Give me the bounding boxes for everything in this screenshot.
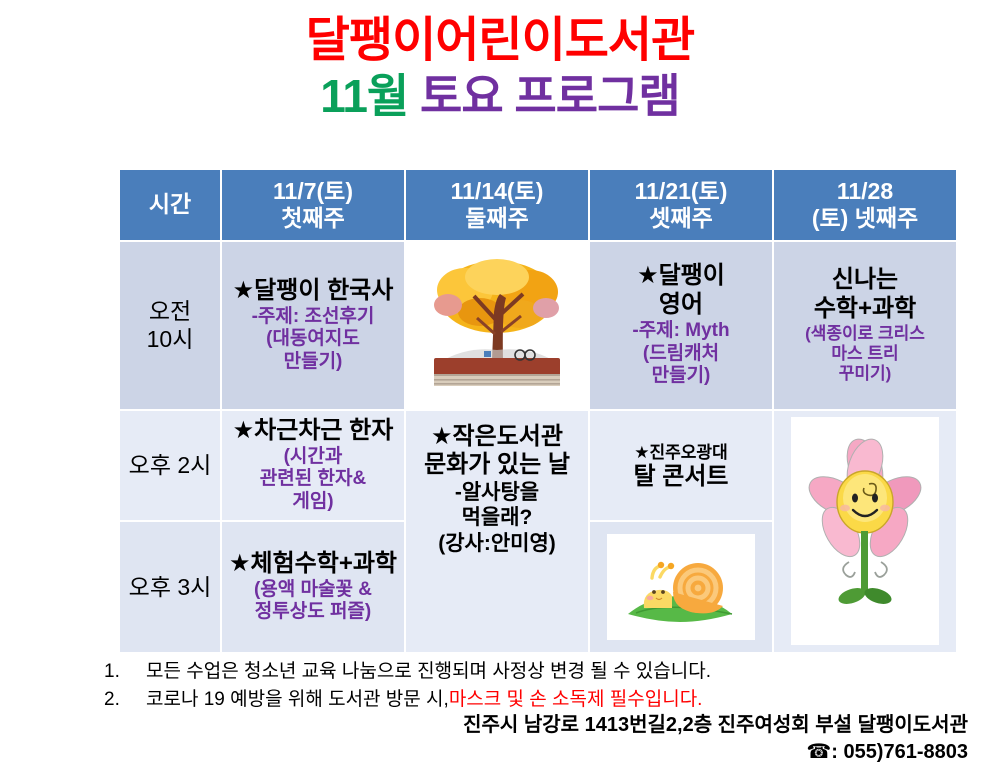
flower-icon bbox=[805, 436, 925, 626]
program-sub-mathsci-3: 꾸미기) bbox=[777, 364, 953, 384]
note-2-text-highlight: 마스크 및 손 소독제 필수입니다. bbox=[449, 686, 703, 714]
header-week4-date: 11/28 bbox=[837, 178, 893, 204]
program-title-talconcert: 탈 콘서트 bbox=[593, 463, 769, 492]
header-week2-ordinal: 둘째주 bbox=[409, 205, 585, 232]
program-title-korean-history: ★달팽이 한국사 bbox=[225, 277, 401, 306]
cell-week1-afternoon3: ★체험수학+과학 (용액 마술꽃 & 정투상도 퍼즐) bbox=[222, 522, 404, 652]
header-week3-ordinal: 셋째주 bbox=[593, 205, 769, 232]
library-address: 진주시 남강로 1413번길2,2층 진주여성회 부설 달팽이도서관 bbox=[0, 712, 968, 739]
table-header-row: 시간 11/7(토) 첫째주 11/14(토) 둘째주 11/21(토) 셋째주… bbox=[120, 170, 956, 240]
snail-icon bbox=[616, 540, 746, 635]
note-item-2: 2. 코로나 19 예방을 위해 도서관 방문 시, 마스크 및 손 소독제 필… bbox=[104, 686, 964, 714]
time-morning-line1: 오전 bbox=[123, 297, 217, 326]
cell-time-afternoon2: 오후 2시 bbox=[120, 411, 220, 520]
schedule-table-wrapper: 시간 11/7(토) 첫째주 11/14(토) 둘째주 11/21(토) 셋째주… bbox=[118, 168, 948, 654]
cell-week3-snail-image bbox=[590, 522, 772, 652]
time-afternoon2-label: 오후 2시 bbox=[129, 452, 212, 478]
note-2-number: 2. bbox=[104, 686, 146, 714]
program-sub-hanja-3: 게임) bbox=[225, 491, 401, 514]
autumn-tree-icon bbox=[422, 250, 572, 400]
cell-week4-flower-image bbox=[774, 411, 956, 652]
header-cell-week1: 11/7(토) 첫째주 bbox=[222, 170, 404, 240]
cell-week1-afternoon2: ★차근차근 한자 (시간과 관련된 한자& 게임) bbox=[222, 411, 404, 520]
page-title-line2: 11월 토요 프로그램 bbox=[0, 70, 1000, 123]
library-telephone: ☎: 055)761-8803 bbox=[0, 739, 968, 766]
note-1-number: 1. bbox=[104, 658, 146, 686]
time-morning-line2: 10시 bbox=[123, 325, 217, 354]
program-sub-experiment-2: 정투상도 퍼즐) bbox=[225, 601, 401, 624]
program-title-small-library: ★작은도서관 bbox=[409, 423, 585, 452]
program-title-mathsci-2: 수학+과학 bbox=[777, 295, 953, 324]
page-title-line1: 달팽이어린이도서관 bbox=[0, 14, 1000, 68]
program-sub-line2: (대동여지도 bbox=[225, 328, 401, 351]
program-sub-culture-1: -알사탕을 bbox=[409, 480, 585, 505]
program-sub-hanja-1: (시간과 bbox=[225, 446, 401, 469]
program-sub-english-3: 만들기) bbox=[593, 365, 769, 388]
title-program: 토요 프로그램 bbox=[408, 70, 679, 122]
header-cell-week2: 11/14(토) 둘째주 bbox=[406, 170, 588, 240]
program-title-english-1: ★달팽이 bbox=[593, 262, 769, 291]
program-sub-line3: 만들기) bbox=[225, 351, 401, 374]
cell-week3-afternoon2: ★진주오광대 탈 콘서트 bbox=[590, 411, 772, 520]
header-cell-week4: 11/28 (토) 넷째주 bbox=[774, 170, 956, 240]
program-title-hanja: ★차근차근 한자 bbox=[225, 417, 401, 446]
poster-root: 달팽이어린이도서관 11월 토요 프로그램 시간 11/7(토) 첫째주 11/… bbox=[0, 0, 1000, 766]
program-title-culture-day: 문화가 있는 날 bbox=[409, 451, 585, 480]
note-item-1: 1. 모든 수업은 청소년 교육 나눔으로 진행되며 사정상 변경 될 수 있습… bbox=[104, 658, 964, 686]
header-cell-time: 시간 bbox=[120, 170, 220, 240]
program-sub-mathsci-1: (색종이로 크리스 bbox=[777, 324, 953, 344]
program-sub-culture-3: (강사:안미영) bbox=[409, 531, 585, 556]
header-week1-ordinal: 첫째주 bbox=[225, 205, 401, 232]
program-sub-english-1: -주제: Myth bbox=[593, 320, 769, 343]
poster-title-block: 달팽이어린이도서관 11월 토요 프로그램 bbox=[0, 0, 1000, 123]
title-month: 11월 bbox=[320, 70, 408, 122]
header-week1-date: 11/7(토) bbox=[273, 178, 353, 204]
header-week3-date: 11/21(토) bbox=[635, 178, 728, 204]
cell-time-afternoon3: 오후 3시 bbox=[120, 522, 220, 652]
program-sub-mathsci-2: 마스 트리 bbox=[777, 344, 953, 364]
note-1-text: 모든 수업은 청소년 교육 나눔으로 진행되며 사정상 변경 될 수 있습니다. bbox=[146, 658, 711, 686]
header-week4-ordinal: (토) 넷째주 bbox=[777, 205, 953, 232]
notes-block: 1. 모든 수업은 청소년 교육 나눔으로 진행되며 사정상 변경 될 수 있습… bbox=[104, 658, 964, 713]
header-time-label: 시간 bbox=[149, 191, 191, 217]
cell-time-morning: 오전 10시 bbox=[120, 242, 220, 409]
program-title-talconcert-small: ★진주오광대 bbox=[634, 443, 727, 462]
program-sub-experiment-1: (용액 마술꽃 & bbox=[225, 579, 401, 602]
program-sub-culture-2: 먹을래? bbox=[409, 505, 585, 530]
schedule-table: 시간 11/7(토) 첫째주 11/14(토) 둘째주 11/21(토) 셋째주… bbox=[118, 168, 958, 654]
table-row-morning: 오전 10시 ★달팽이 한국사 -주제: 조선후기 (대동여지도 만들기) bbox=[120, 242, 956, 409]
program-sub-line1: -주제: 조선후기 bbox=[225, 306, 401, 329]
cell-week3-morning: ★달팽이 영어 -주제: Myth (드림캐처 만들기) bbox=[590, 242, 772, 409]
autumn-tree-on-book-image bbox=[409, 244, 585, 407]
cell-week4-morning: 신나는 수학+과학 (색종이로 크리스 마스 트리 꾸미기) bbox=[774, 242, 956, 409]
note-2-text: 코로나 19 예방을 위해 도서관 방문 시, bbox=[146, 686, 449, 714]
program-title-mathsci-1: 신나는 bbox=[777, 266, 953, 295]
table-row-afternoon2: 오후 2시 ★차근차근 한자 (시간과 관련된 한자& 게임) ★작은도서관 문… bbox=[120, 411, 956, 520]
cell-week1-morning: ★달팽이 한국사 -주제: 조선후기 (대동여지도 만들기) bbox=[222, 242, 404, 409]
cell-week2-morning-image bbox=[406, 242, 588, 409]
program-title-experiment-math: ★체험수학+과학 bbox=[225, 550, 401, 579]
program-sub-hanja-2: 관련된 한자& bbox=[225, 468, 401, 491]
program-title-english-2: 영어 bbox=[593, 291, 769, 320]
pink-smiling-flower-image bbox=[791, 417, 939, 645]
time-afternoon3-label: 오후 3시 bbox=[129, 574, 212, 600]
program-sub-english-2: (드림캐처 bbox=[593, 343, 769, 366]
header-cell-week3: 11/21(토) 셋째주 bbox=[590, 170, 772, 240]
footer-contact-block: 진주시 남강로 1413번길2,2층 진주여성회 부설 달팽이도서관 ☎: 05… bbox=[0, 712, 968, 766]
snail-on-leaf-image bbox=[607, 534, 755, 640]
cell-week2-culture-day: ★작은도서관 문화가 있는 날 -알사탕을 먹을래? (강사:안미영) bbox=[406, 411, 588, 652]
header-week2-date: 11/14(토) bbox=[451, 178, 544, 204]
